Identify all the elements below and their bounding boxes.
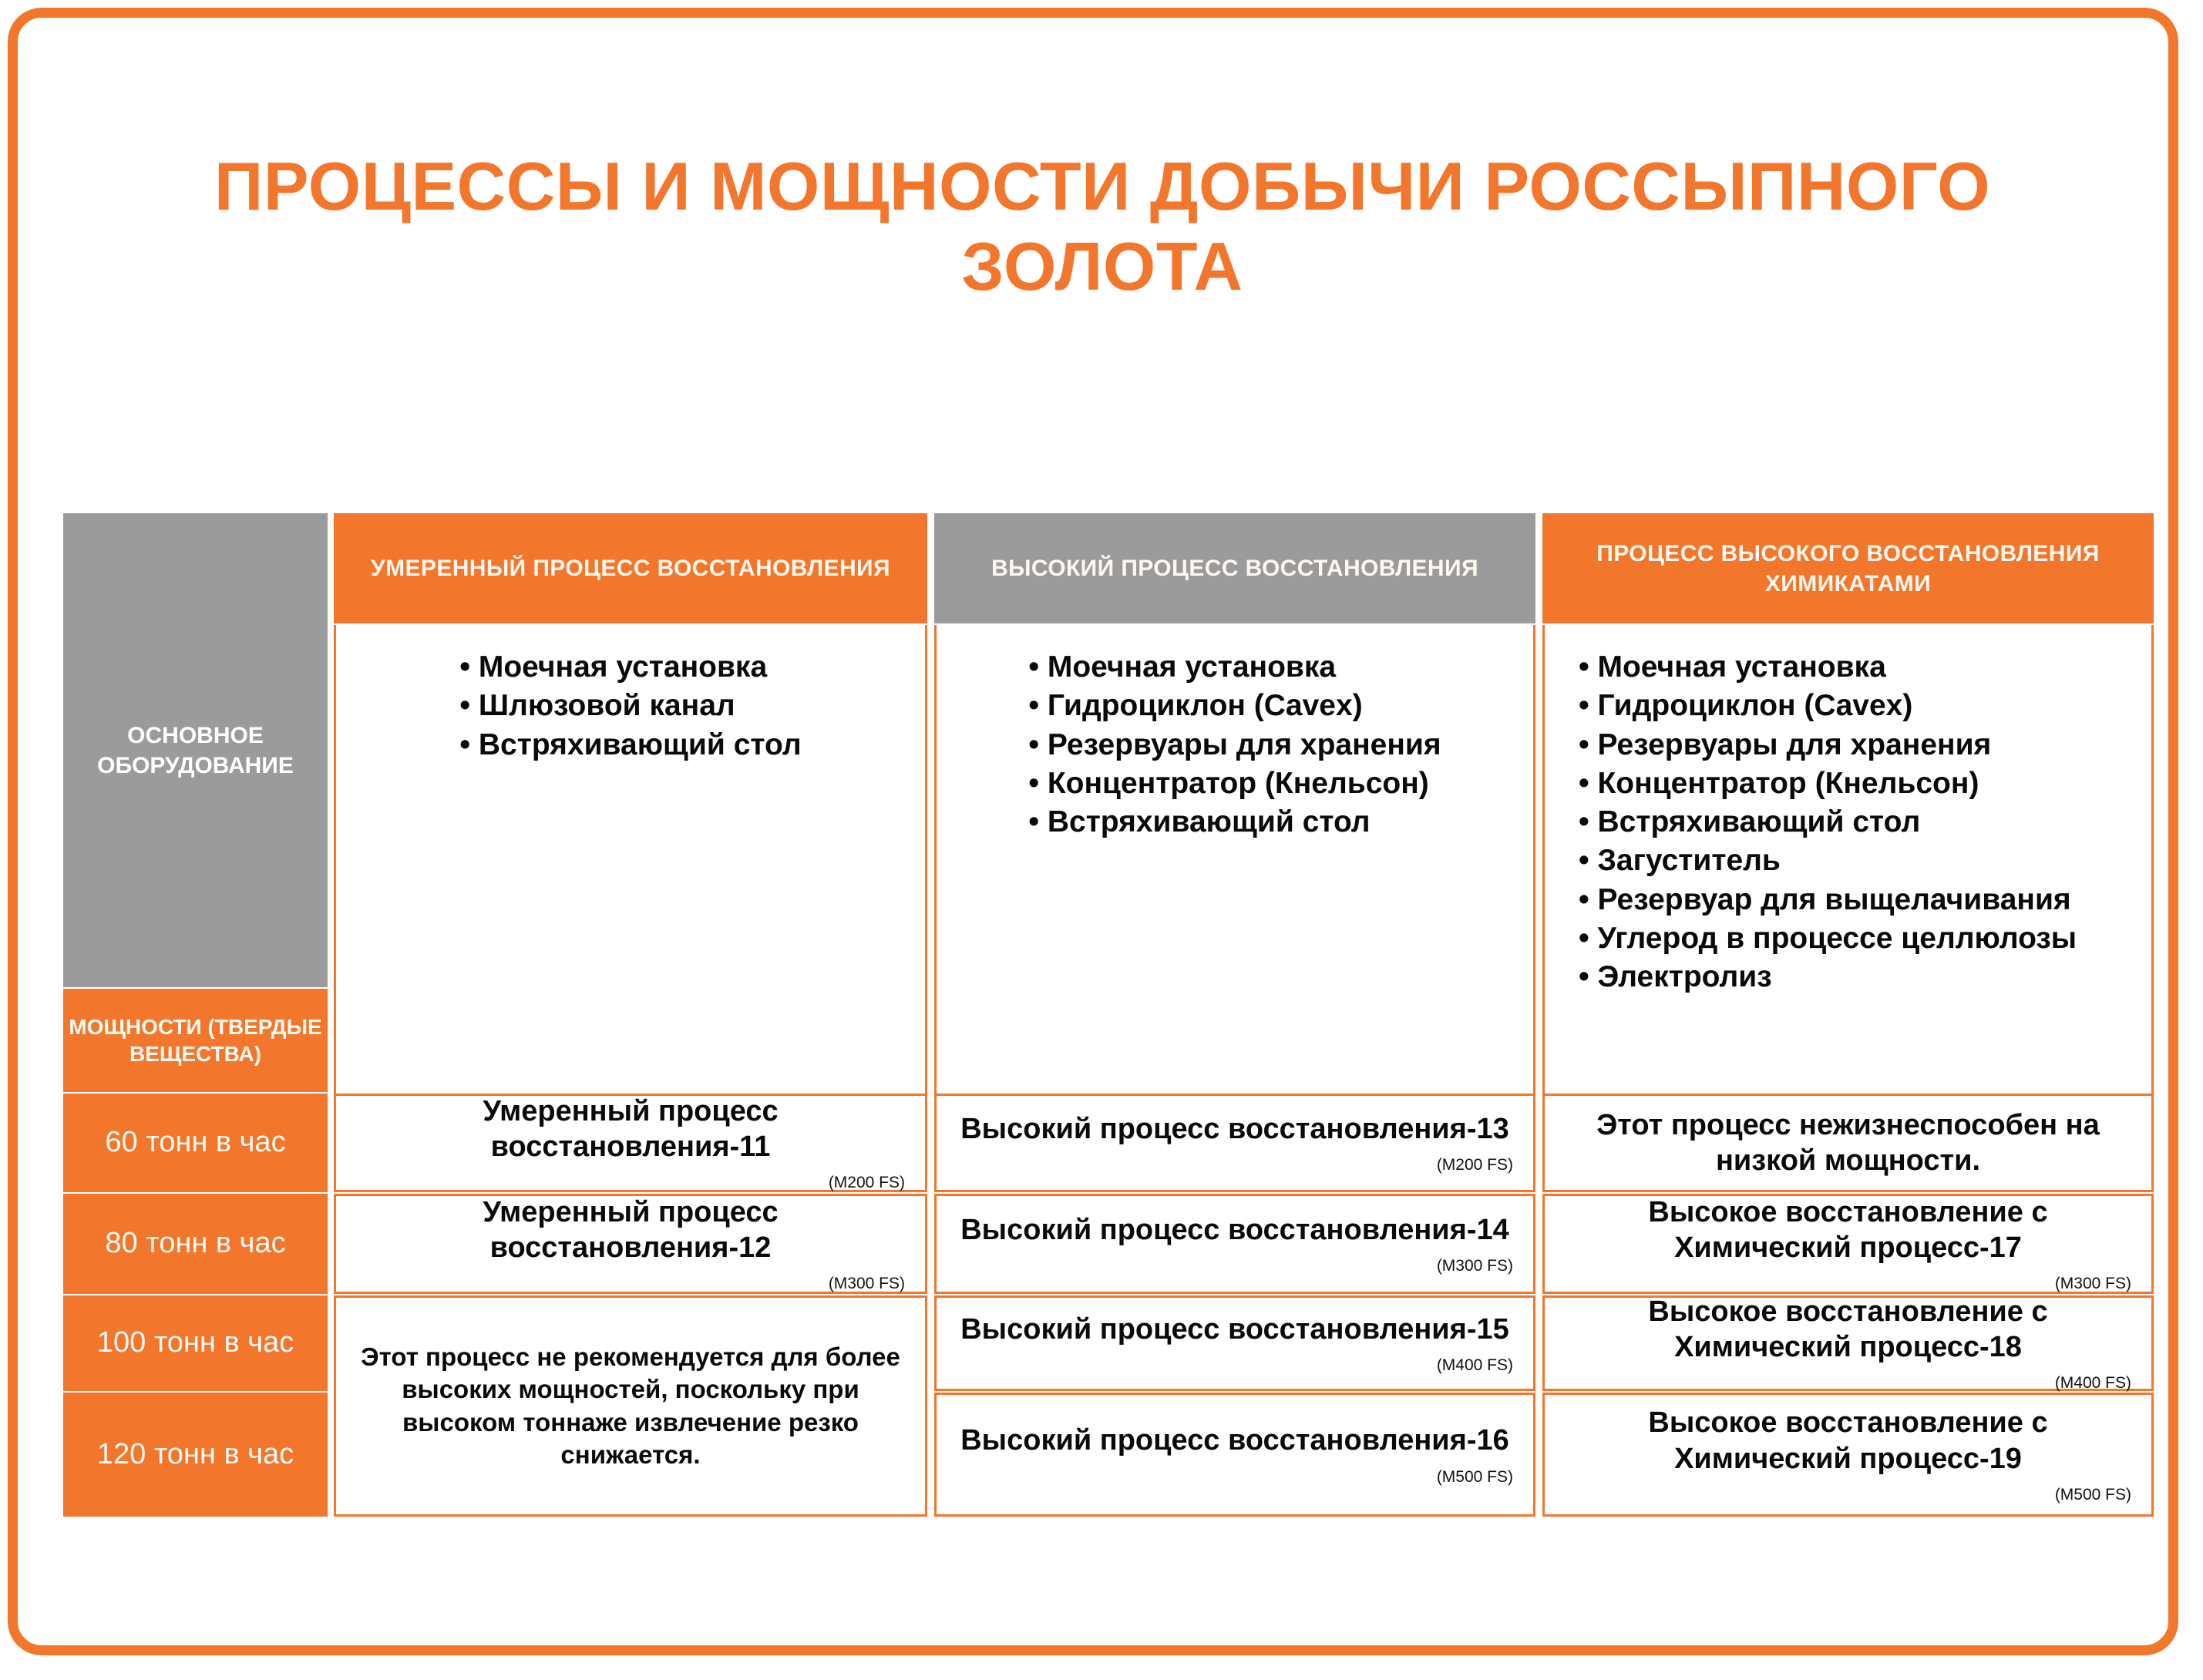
capacity-label-80tph: 80 тонн в час bbox=[63, 1194, 328, 1294]
cell-model-code: (M300 FS) bbox=[957, 1257, 1513, 1275]
cell-model-code: (M300 FS) bbox=[1565, 1275, 2131, 1293]
table-cell-moderate-80: Умеренный процесс восстановления-12 (M30… bbox=[334, 1194, 927, 1294]
cell-model-code: (M200 FS) bbox=[356, 1174, 905, 1192]
cell-model-code: (M200 FS) bbox=[957, 1156, 1513, 1174]
row-label-capacity-text: МОЩНОСТИ (ТВЕРДЫЕ ВЕЩЕСТВА) bbox=[66, 1013, 325, 1067]
equipment-item: Моечная установка bbox=[459, 648, 801, 687]
cell-text: Высокий процесс восстановления-14 bbox=[957, 1212, 1513, 1248]
equipment-list-chemical: Моечная установка Гидроциклон (Cavex) Ре… bbox=[1542, 625, 2154, 1097]
equipment-item: Моечная установка bbox=[1579, 648, 2077, 687]
column-header-high-recovery: ВЫСОКИЙ ПРОЦЕСС ВОССТАНОВЛЕНИЯ bbox=[934, 513, 1535, 623]
table-cell-high-60: Высокий процесс восстановления-13 (M200 … bbox=[934, 1094, 1535, 1192]
cell-text: Высокое восстановление с Химический проц… bbox=[1565, 1405, 2131, 1477]
equipment-item: Концентратор (Кнельсон) bbox=[1579, 764, 2077, 803]
cell-text: Высокий процесс восстановления-13 bbox=[957, 1111, 1513, 1147]
cell-text: Высокое восстановление с Химический проц… bbox=[1565, 1294, 2131, 1366]
row-label-capacity: МОЩНОСТИ (ТВЕРДЫЕ ВЕЩЕСТВА) bbox=[63, 989, 328, 1092]
equipment-item: Шлюзовой канал bbox=[459, 687, 801, 725]
row-label-main-equipment: ОСНОВНОЕ ОБОРУДОВАНИЕ bbox=[63, 513, 328, 987]
table-cell-high-80: Высокий процесс восстановления-14 (M300 … bbox=[934, 1194, 1535, 1294]
cell-model-code: (M500 FS) bbox=[957, 1468, 1513, 1487]
cell-text: Этот процесс нежизнеспособен на низкой м… bbox=[1565, 1107, 2131, 1179]
equipment-item: Встряхивающий стол bbox=[1028, 803, 1441, 842]
cell-model-code: (M400 FS) bbox=[957, 1356, 1513, 1375]
equipment-item: Резервуар для выщелачивания bbox=[1579, 881, 2077, 919]
table-cell-chemical-80: Высокое восстановление с Химический проц… bbox=[1542, 1194, 2154, 1294]
cell-text: Высокий процесс восстановления-16 bbox=[957, 1423, 1513, 1458]
table-cell-moderate-60: Умеренный процесс восстановления-11 (M20… bbox=[334, 1094, 927, 1192]
equipment-list-moderate: Моечная установка Шлюзовой канал Встряхи… bbox=[334, 625, 927, 1097]
equipment-ul-chemical: Моечная установка Гидроциклон (Cavex) Ре… bbox=[1579, 648, 2077, 997]
equipment-ul-high: Моечная установка Гидроциклон (Cavex) Ре… bbox=[1028, 648, 1441, 842]
capacity-label-100tph: 100 тонн в час bbox=[63, 1295, 328, 1391]
cell-model-code: (M500 FS) bbox=[1565, 1486, 2131, 1504]
equipment-item: Моечная установка bbox=[1028, 648, 1441, 687]
table-cell-high-120: Высокий процесс восстановления-16 (M500 … bbox=[934, 1393, 1535, 1517]
equipment-item: Встряхивающий стол bbox=[1579, 803, 2077, 842]
capacity-label-120tph: 120 тонн в час bbox=[63, 1393, 328, 1517]
table-cell-chemical-60: Этот процесс нежизнеспособен на низкой м… bbox=[1542, 1094, 2154, 1192]
capacity-label-60tph: 60 тонн в час bbox=[63, 1094, 328, 1192]
equipment-item: Электролиз bbox=[1579, 958, 2077, 996]
cell-text: Этот процесс не рекомендуется для более … bbox=[356, 1341, 905, 1471]
column-header-high-recovery-chemicals: ПРОЦЕСС ВЫСОКОГО ВОССТАНОВЛЕНИЯ ХИМИКАТА… bbox=[1542, 513, 2154, 623]
table-cell-chemical-120: Высокое восстановление с Химический проц… bbox=[1542, 1393, 2154, 1517]
equipment-item: Резервуары для хранения bbox=[1028, 726, 1441, 764]
equipment-item: Резервуары для хранения bbox=[1579, 726, 2077, 764]
cell-text: Высокое восстановление с Химический проц… bbox=[1565, 1194, 2131, 1266]
cell-model-code: (M400 FS) bbox=[1565, 1374, 2131, 1393]
table-cell-high-100: Высокий процесс восстановления-15 (M400 … bbox=[934, 1295, 1535, 1391]
cell-text: Высокий процесс восстановления-15 bbox=[957, 1312, 1513, 1347]
equipment-item: Гидроциклон (Cavex) bbox=[1028, 687, 1441, 725]
equipment-item: Встряхивающий стол bbox=[459, 726, 801, 764]
equipment-list-high: Моечная установка Гидроциклон (Cavex) Ре… bbox=[934, 625, 1535, 1097]
table-cell-chemical-100: Высокое восстановление с Химический проц… bbox=[1542, 1295, 2154, 1391]
cell-model-code: (M300 FS) bbox=[356, 1275, 905, 1293]
cell-text: Умеренный процесс восстановления-12 bbox=[356, 1194, 905, 1266]
equipment-item: Углерод в процессе целлюлозы bbox=[1579, 919, 2077, 958]
process-capacity-table: ОСНОВНОЕ ОБОРУДОВАНИЕ МОЩНОСТИ (ТВЕРДЫЕ … bbox=[63, 513, 2154, 1517]
column-header-moderate-recovery: УМЕРЕННЫЙ ПРОЦЕСС ВОССТАНОВЛЕНИЯ bbox=[334, 513, 927, 623]
cell-text: Умеренный процесс восстановления-11 bbox=[356, 1094, 905, 1165]
page-title: ПРОЦЕССЫ И МОЩНОСТИ ДОБЫЧИ РОССЫПНОГО ЗО… bbox=[116, 146, 2089, 307]
equipment-ul-moderate: Моечная установка Шлюзовой канал Встряхи… bbox=[459, 648, 801, 764]
equipment-item: Концентратор (Кнельсон) bbox=[1028, 764, 1441, 803]
equipment-item: Загуститель bbox=[1579, 842, 2077, 880]
equipment-item: Гидроциклон (Cavex) bbox=[1579, 687, 2077, 725]
row-header-column: ОСНОВНОЕ ОБОРУДОВАНИЕ МОЩНОСТИ (ТВЕРДЫЕ … bbox=[63, 513, 328, 1517]
table-cell-moderate-note: Этот процесс не рекомендуется для более … bbox=[334, 1295, 927, 1517]
